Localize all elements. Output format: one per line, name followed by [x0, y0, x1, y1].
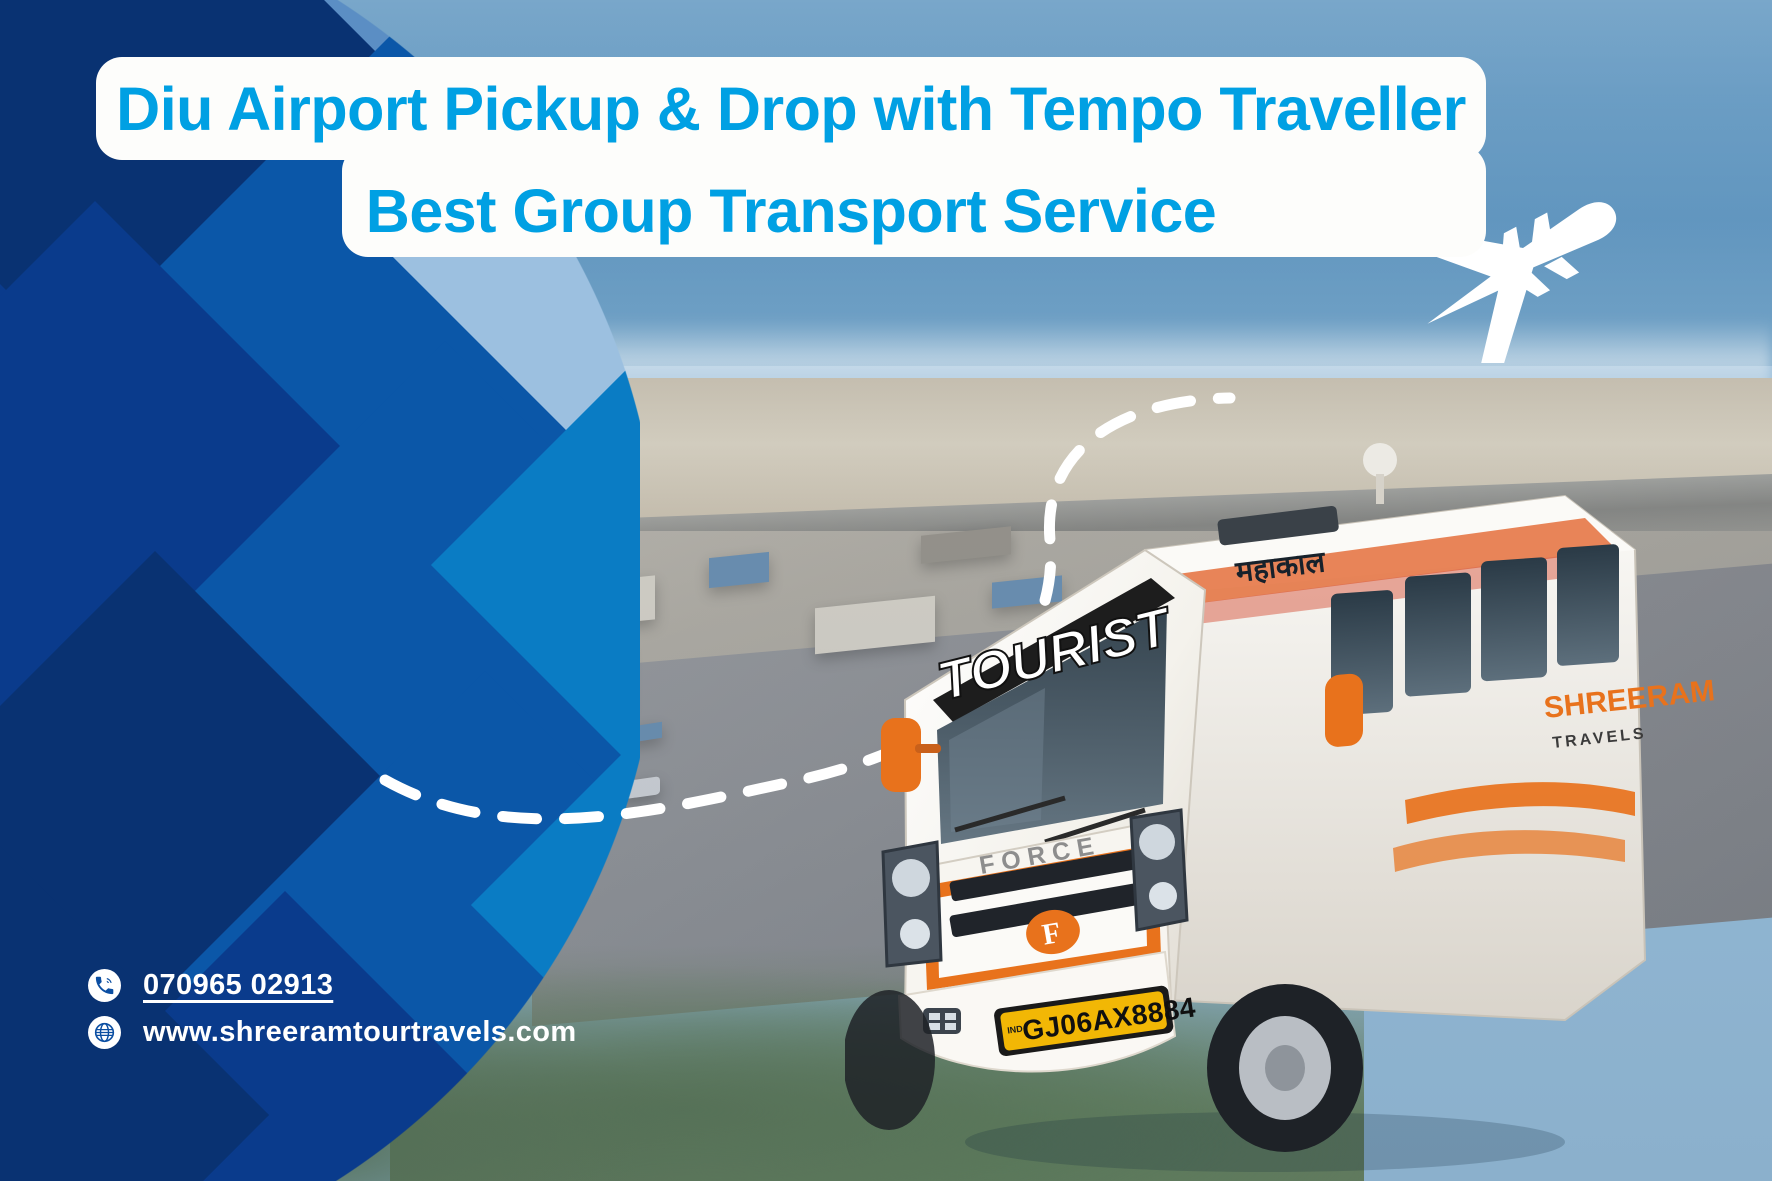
contact-block: 070965 02913 www.shreeramtourtravels.com	[88, 969, 608, 1063]
headlight	[883, 842, 941, 966]
rear-wheel	[845, 990, 935, 1130]
side-mirror	[1325, 673, 1363, 748]
headlight	[1131, 810, 1187, 930]
headline-line-1: Diu Airport Pickup & Drop with Tempo Tra…	[96, 57, 1486, 161]
website-url-text[interactable]: www.shreeramtourtravels.com	[143, 1016, 577, 1049]
headline-plaque: Diu Airport Pickup & Drop with Tempo Tra…	[96, 57, 1486, 257]
phone-number-text[interactable]: 070965 02913	[143, 969, 333, 1002]
tempo-traveller-vehicle: महाकाल SHREERAM TRAVELS TOURIST	[845, 400, 1745, 1181]
website-row[interactable]: www.shreeramtourtravels.com	[88, 1016, 608, 1049]
promo-banner: Diu Airport Pickup & Drop with Tempo Tra…	[0, 0, 1772, 1181]
globe-icon	[88, 1016, 121, 1049]
page-title: Diu Airport Pickup & Drop with Tempo Tra…	[96, 57, 1486, 257]
headline-line-2: Best Group Transport Service	[96, 161, 1486, 261]
phone-row[interactable]: 070965 02913	[88, 969, 608, 1002]
front-wheel	[1207, 984, 1363, 1152]
phone-call-icon	[88, 969, 121, 1002]
